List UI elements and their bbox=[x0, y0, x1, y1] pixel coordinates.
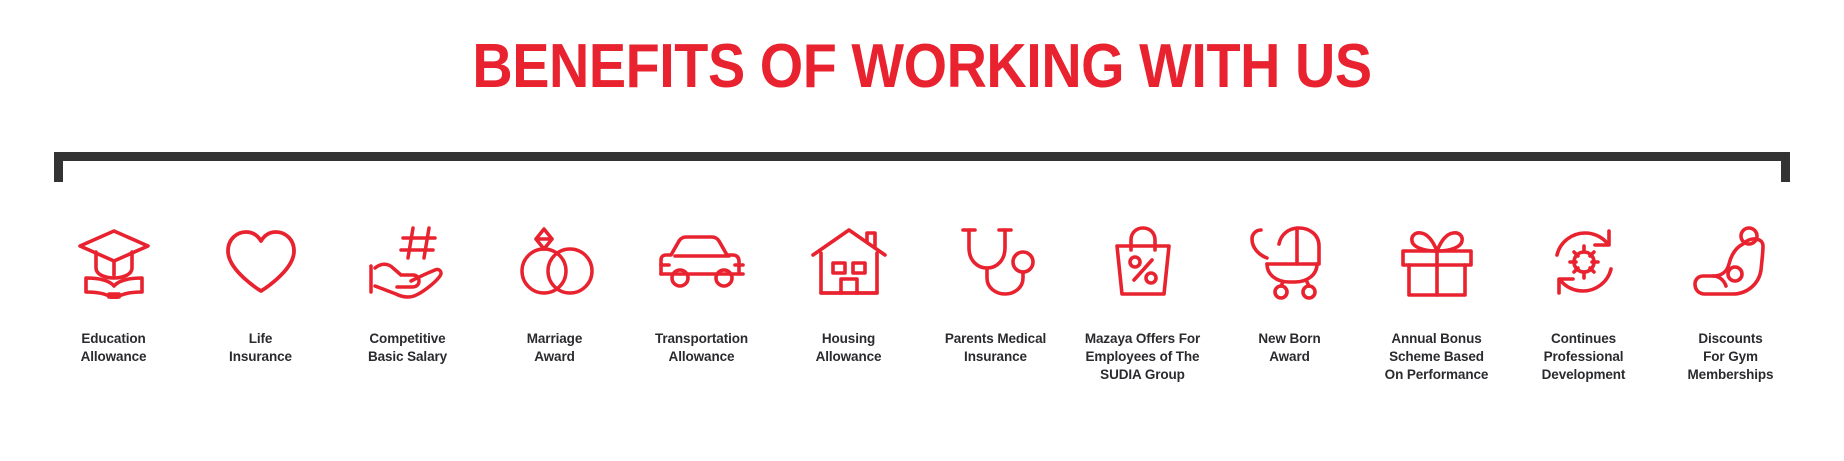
page-title: BENEFITS OF WORKING WITH US bbox=[92, 34, 1752, 99]
baby-stroller-icon bbox=[1247, 218, 1333, 306]
benefit-label: Transportation Allowance bbox=[655, 330, 748, 366]
benefit-label: Continues Professional Development bbox=[1542, 330, 1626, 383]
benefit-item-continues-professional-development: Continues Professional Development bbox=[1510, 218, 1657, 383]
benefit-item-annual-bonus: Annual Bonus Scheme Based On Performance bbox=[1363, 218, 1510, 383]
gear-refresh-cycle-icon bbox=[1543, 218, 1625, 306]
section-bracket bbox=[54, 152, 1790, 184]
benefit-item-transportation-allowance: Transportation Allowance bbox=[628, 218, 775, 366]
bracket-tick-left bbox=[54, 152, 63, 182]
benefit-item-marriage-award: Marriage Award bbox=[481, 218, 628, 366]
benefits-list: Education Allowance Life Insurance bbox=[40, 218, 1804, 383]
benefit-label: Marriage Award bbox=[527, 330, 582, 366]
benefit-label: Discounts For Gym Memberships bbox=[1688, 330, 1774, 383]
benefit-item-gym-discounts: Discounts For Gym Memberships bbox=[1657, 218, 1804, 383]
heart-icon bbox=[222, 218, 300, 306]
benefit-item-new-born-award: New Born Award bbox=[1216, 218, 1363, 366]
benefit-label: Parents Medical Insurance bbox=[945, 330, 1046, 366]
flexed-arm-icon bbox=[1691, 218, 1771, 306]
graduation-cap-book-icon bbox=[74, 218, 154, 306]
benefit-label: Annual Bonus Scheme Based On Performance bbox=[1385, 330, 1489, 383]
benefit-item-education-allowance: Education Allowance bbox=[40, 218, 187, 366]
benefit-label: Competitive Basic Salary bbox=[368, 330, 447, 366]
discount-shopping-bag-icon bbox=[1107, 218, 1179, 306]
benefit-label: New Born Award bbox=[1258, 330, 1320, 366]
house-icon bbox=[809, 218, 889, 306]
benefit-label: Mazaya Offers For Employees of The SUDIA… bbox=[1085, 330, 1200, 383]
hand-holding-money-icon bbox=[367, 218, 449, 306]
benefits-page: BENEFITS OF WORKING WITH US Education Al… bbox=[0, 0, 1844, 461]
benefit-item-life-insurance: Life Insurance bbox=[187, 218, 334, 366]
benefit-label: Education Allowance bbox=[81, 330, 147, 366]
benefit-label: Housing Allowance bbox=[816, 330, 882, 366]
car-icon bbox=[655, 218, 749, 306]
bracket-tick-right bbox=[1781, 152, 1790, 182]
bracket-bar bbox=[54, 152, 1790, 161]
benefit-item-parents-medical-insurance: Parents Medical Insurance bbox=[922, 218, 1069, 366]
gift-box-icon bbox=[1397, 218, 1477, 306]
benefit-label: Life Insurance bbox=[229, 330, 292, 366]
benefit-item-competitive-basic-salary: Competitive Basic Salary bbox=[334, 218, 481, 366]
wedding-rings-icon bbox=[512, 218, 598, 306]
benefit-item-mazaya-offers: Mazaya Offers For Employees of The SUDIA… bbox=[1069, 218, 1216, 383]
stethoscope-icon bbox=[953, 218, 1039, 306]
benefit-item-housing-allowance: Housing Allowance bbox=[775, 218, 922, 366]
